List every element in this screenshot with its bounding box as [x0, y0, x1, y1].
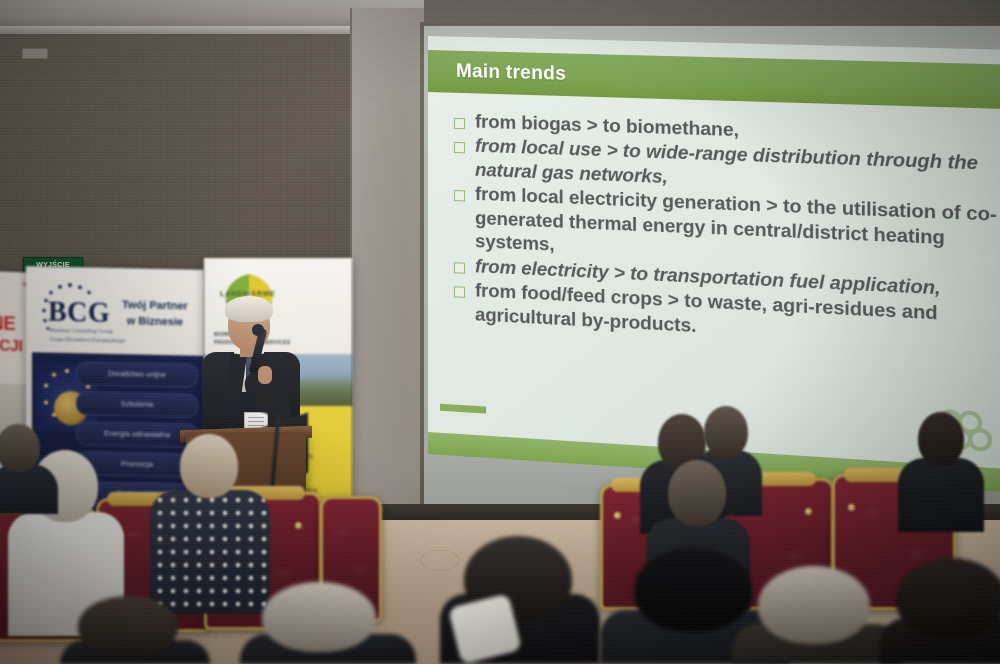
person-head: [0, 424, 40, 472]
audience-person-foreground: [880, 558, 1000, 664]
bcg-wordmark: BCG: [48, 297, 110, 330]
wall-column: [352, 8, 424, 568]
person-head: [668, 460, 726, 526]
bcg-subtitle-line2: Grupa Doradztwa Europejskiego: [50, 335, 125, 345]
chair-knob: [805, 508, 812, 515]
person-head: [78, 596, 178, 656]
speaker-hand: [258, 366, 272, 384]
chair-knob: [614, 512, 621, 519]
audience-person: [898, 412, 984, 532]
conference-room-photo: WYJŚCIE EWAKUACYJNE Main trends from bio…: [0, 0, 1000, 664]
bcg-tagline-line1: Twój Partner: [122, 298, 188, 315]
audience-person-foreground: [732, 566, 902, 664]
chair-knob: [848, 504, 855, 511]
person-body: [898, 458, 984, 532]
slide-title: Main trends: [456, 61, 566, 86]
square-bullet-icon: [454, 118, 465, 129]
audience-person-foreground: [60, 596, 210, 664]
bcg-tagline-line2: w Biznesie: [122, 314, 188, 331]
slide-bullet-list: from biogas > to biomethane, from local …: [454, 109, 1000, 356]
bcg-tagline: Twój Partner w Biznesie: [122, 298, 188, 331]
person-head: [918, 412, 964, 466]
microphone-head-icon: [252, 324, 264, 336]
wall-socket: [22, 48, 48, 59]
person-head: [896, 558, 1000, 638]
person-body: [0, 464, 58, 514]
audience-person-foreground: [240, 582, 416, 664]
chair-knob: [295, 522, 302, 529]
bcg-subtitle: Business Consulting Group Grupa Doradztw…: [50, 327, 125, 346]
person-head: [758, 566, 870, 644]
audience-person-foreground: [440, 536, 600, 664]
banner-red-fragment-mid: NE: [0, 313, 15, 336]
square-bullet-icon: [454, 262, 465, 274]
banner-red-fragment-bottom: ACJI: [0, 337, 22, 356]
person-head: [180, 434, 238, 498]
square-bullet-icon: [454, 142, 465, 153]
audience-person: [0, 424, 58, 514]
bcg-menu-item-1: Doradztwo unijne: [76, 361, 198, 388]
square-bullet-icon: [454, 190, 465, 201]
speaker-hair: [225, 296, 273, 322]
square-bullet-icon: [454, 287, 465, 299]
person-head: [262, 582, 376, 652]
bcg-menu-item-2: Szkolenia: [76, 391, 198, 418]
person-head: [704, 406, 748, 458]
banner-red-fragment-top: KI: [0, 281, 28, 290]
